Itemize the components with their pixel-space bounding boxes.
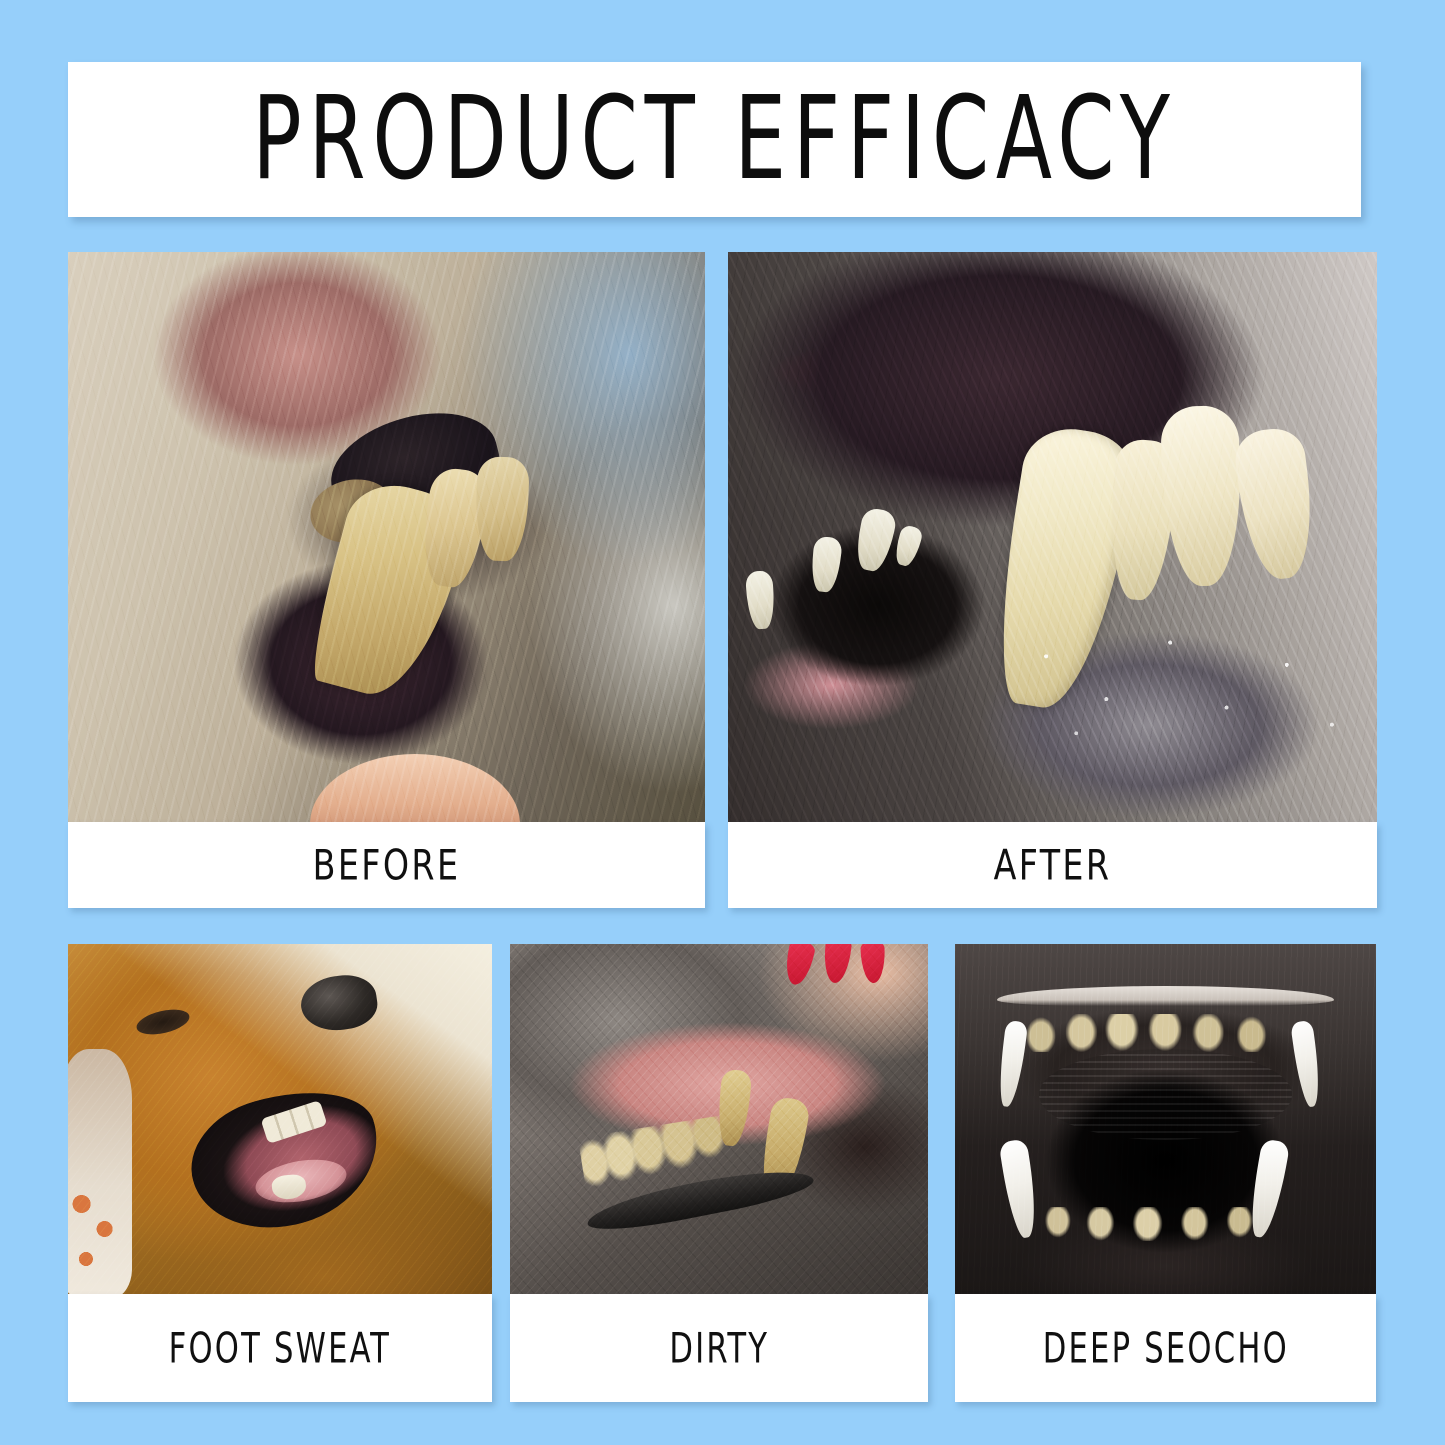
fur-texture	[510, 944, 928, 1294]
caption-card-after: AFTER	[728, 822, 1377, 908]
fur-texture	[955, 944, 1376, 1294]
panel-dirty: DIRTY	[510, 944, 928, 1402]
photo-after	[728, 252, 1377, 822]
caption-card-deep-seocho: DEEP SEOCHO	[955, 1294, 1376, 1402]
fur-texture	[68, 944, 492, 1294]
fur-texture	[728, 252, 1377, 822]
panel-foot-sweat: FOOT SWEAT	[68, 944, 492, 1402]
panel-after: AFTER	[728, 252, 1377, 908]
caption-card-dirty: DIRTY	[510, 1294, 928, 1402]
panel-deep-seocho: DEEP SEOCHO	[955, 944, 1376, 1402]
caption-deep-seocho: DEEP SEOCHO	[1042, 1324, 1288, 1372]
caption-card-before: BEFORE	[68, 822, 705, 908]
panel-before: BEFORE	[68, 252, 705, 908]
page-title-card: PRODUCT EFFICACY	[68, 62, 1361, 217]
caption-after: AFTER	[994, 841, 1112, 889]
caption-dirty: DIRTY	[669, 1324, 769, 1372]
caption-foot-sweat: FOOT SWEAT	[169, 1324, 391, 1372]
page-title: PRODUCT EFFICACY	[252, 82, 1176, 197]
caption-before: BEFORE	[313, 841, 461, 889]
photo-before	[68, 252, 705, 822]
fur-texture	[68, 252, 705, 822]
caption-card-foot-sweat: FOOT SWEAT	[68, 1294, 492, 1402]
photo-foot-sweat	[68, 944, 492, 1294]
photo-dirty	[510, 944, 928, 1294]
photo-deep-seocho	[955, 944, 1376, 1294]
